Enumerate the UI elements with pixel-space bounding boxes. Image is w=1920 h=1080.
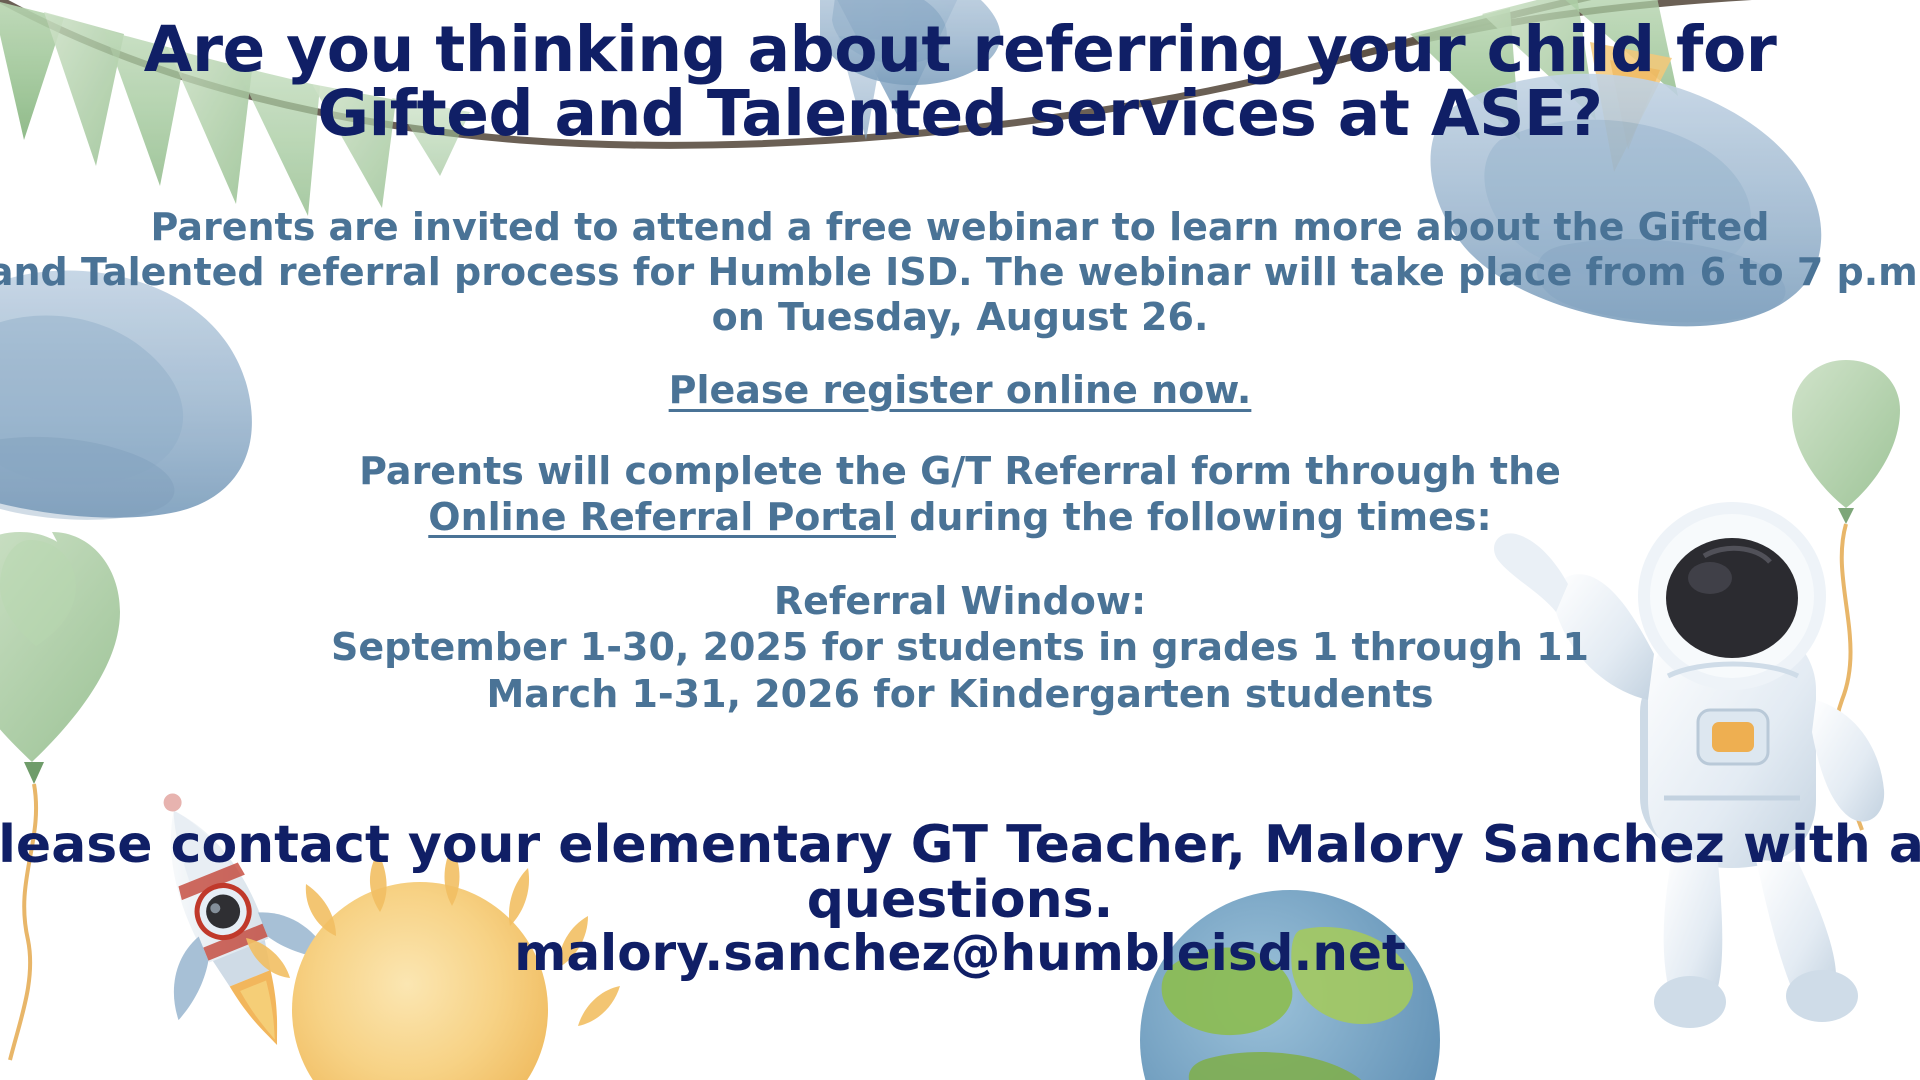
headline-line-1: Are you thinking about referring your ch… — [144, 13, 1777, 86]
intro-line-1: Parents are invited to attend a free web… — [0, 205, 1920, 250]
contact-email[interactable]: malory.sanchez@humbleisd.net — [0, 927, 1920, 980]
referral-window-line-2: March 1-31, 2026 for Kindergarten studen… — [0, 671, 1920, 717]
intro-line-3: on Tuesday, August 26. — [0, 295, 1920, 340]
contact-block: Please contact your elementary GT Teache… — [0, 818, 1920, 980]
referral-window-block: Referral Window: September 1-30, 2025 fo… — [0, 578, 1920, 717]
headline-line-2: Gifted and Talented services at ASE? — [0, 82, 1920, 146]
flyer-canvas: Are you thinking about referring your ch… — [0, 0, 1920, 1080]
online-referral-portal-link[interactable]: Online Referral Portal — [428, 495, 896, 539]
register-link-row: Please register online now. — [0, 368, 1920, 412]
intro-line-2: and Talented referral process for Humble… — [0, 250, 1920, 295]
contact-line-2: questions. — [0, 873, 1920, 928]
register-online-link[interactable]: Please register online now. — [669, 368, 1252, 412]
contact-line-1: Please contact your elementary GT Teache… — [0, 818, 1920, 873]
process-line-2: Online Referral Portal during the follow… — [0, 494, 1920, 540]
process-paragraph: Parents will complete the G/T Referral f… — [0, 448, 1920, 541]
referral-window-heading: Referral Window: — [0, 578, 1920, 624]
referral-window-line-1: September 1-30, 2025 for students in gra… — [0, 624, 1920, 670]
process-line-2-tail: during the following times: — [896, 495, 1492, 539]
page-title: Are you thinking about referring your ch… — [0, 18, 1920, 147]
intro-paragraph: Parents are invited to attend a free web… — [0, 205, 1920, 339]
process-line-1: Parents will complete the G/T Referral f… — [0, 448, 1920, 494]
